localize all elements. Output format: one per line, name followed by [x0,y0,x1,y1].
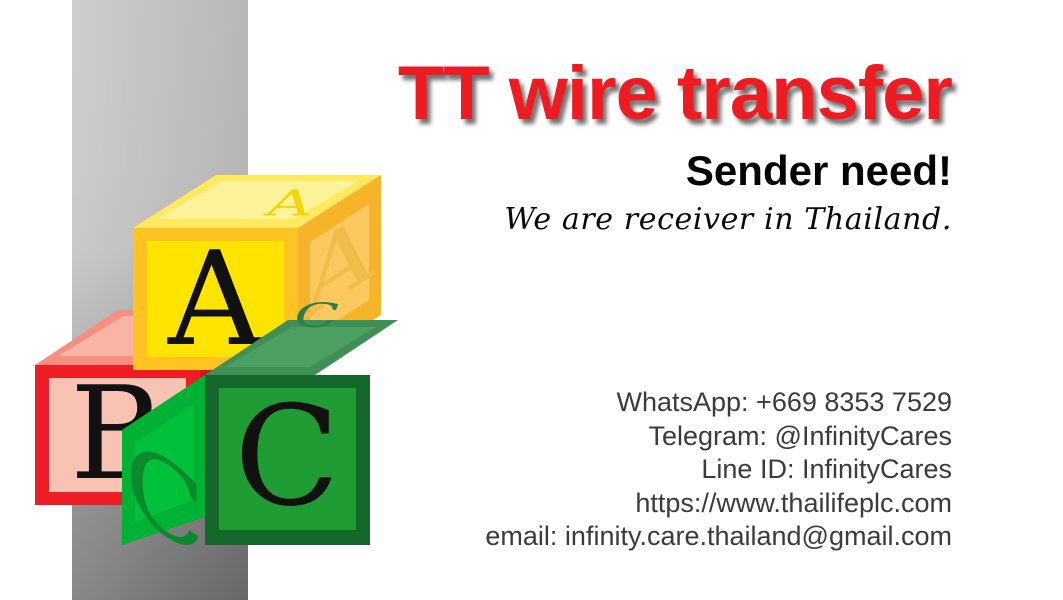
page-title: TT wire transfer [252,56,952,132]
contact-details: WhatsApp: +669 8353 7529 Telegram: @Infi… [252,386,952,554]
contact-line-email[interactable]: email: infinity.care.thailand@gmail.com [252,520,952,554]
contact-line-whatsapp[interactable]: WhatsApp: +669 8353 7529 [252,386,952,420]
promo-banner: .serifL { font-family: "DejaVu Serif", s… [0,0,1063,600]
contact-line-telegram[interactable]: Telegram: @InfinityCares [252,420,952,454]
contact-line-line-id[interactable]: Line ID: InfinityCares [252,453,952,487]
subtitle: Sender need! [252,150,952,192]
tagline: We are receiver in Thailand. [252,203,952,236]
contact-line-website[interactable]: https://www.thailifeplc.com [252,487,952,521]
